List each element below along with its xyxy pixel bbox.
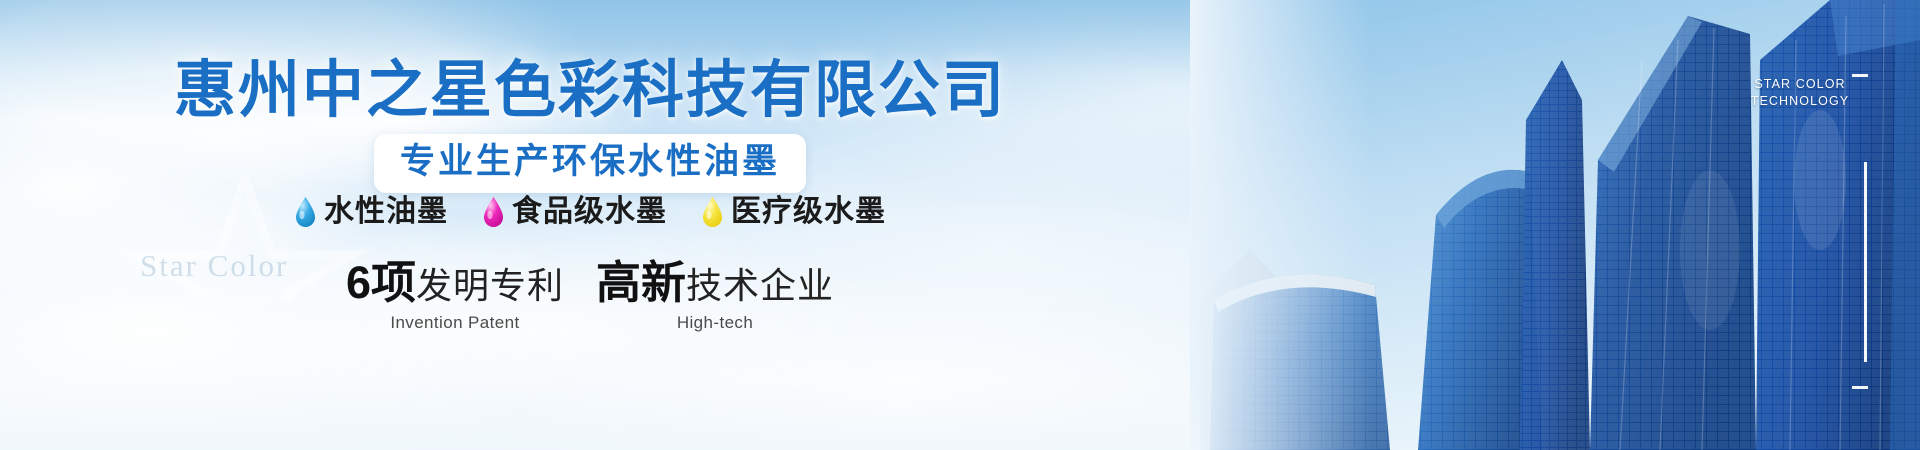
product-label: 医疗级水墨 (731, 196, 886, 228)
credential-english: High-tech (596, 313, 834, 333)
water-drop-icon (701, 196, 724, 228)
brand-label-line1: STAR COLOR (1745, 76, 1855, 93)
credential-high-tech: 高新技术企业 High-tech (596, 258, 834, 333)
credential-rest: 技术企业 (686, 265, 834, 306)
brand-label: STAR COLOR TECHNOLOGY (1745, 76, 1855, 110)
product-item-water-based-ink: 水性油墨 (294, 196, 448, 228)
product-item-food-grade-ink: 食品级水墨 (482, 196, 667, 228)
product-item-medical-grade-ink: 医疗级水墨 (701, 196, 886, 228)
product-label: 水性油墨 (324, 196, 448, 228)
credential-rest: 发明专利 (416, 265, 564, 306)
company-title: 惠州中之星色彩科技有限公司 (0, 58, 1180, 125)
bottom-fade-overlay (0, 380, 1200, 450)
credential-highlight: 高新 (596, 257, 686, 308)
hero-banner: Star Color (0, 0, 1920, 450)
water-drop-icon (482, 196, 505, 228)
city-skyscrapers-image (1190, 0, 1920, 450)
credential-highlight: 6项 (346, 257, 416, 308)
brand-label-line2: TECHNOLOGY (1745, 93, 1855, 110)
subtitle-badge-row: 专业生产环保水性油墨 (0, 134, 1180, 193)
credential-english: Invention Patent (346, 313, 564, 333)
water-drop-icon (294, 196, 317, 228)
product-list: 水性油墨 食品级水墨 (0, 196, 1180, 228)
credential-list: 6项发明专利 Invention Patent 高新技术企业 High-tech (0, 258, 1180, 333)
product-label: 食品级水墨 (512, 196, 667, 228)
credential-invention-patent: 6项发明专利 Invention Patent (346, 258, 564, 333)
subtitle-badge: 专业生产环保水性油墨 (374, 134, 806, 193)
